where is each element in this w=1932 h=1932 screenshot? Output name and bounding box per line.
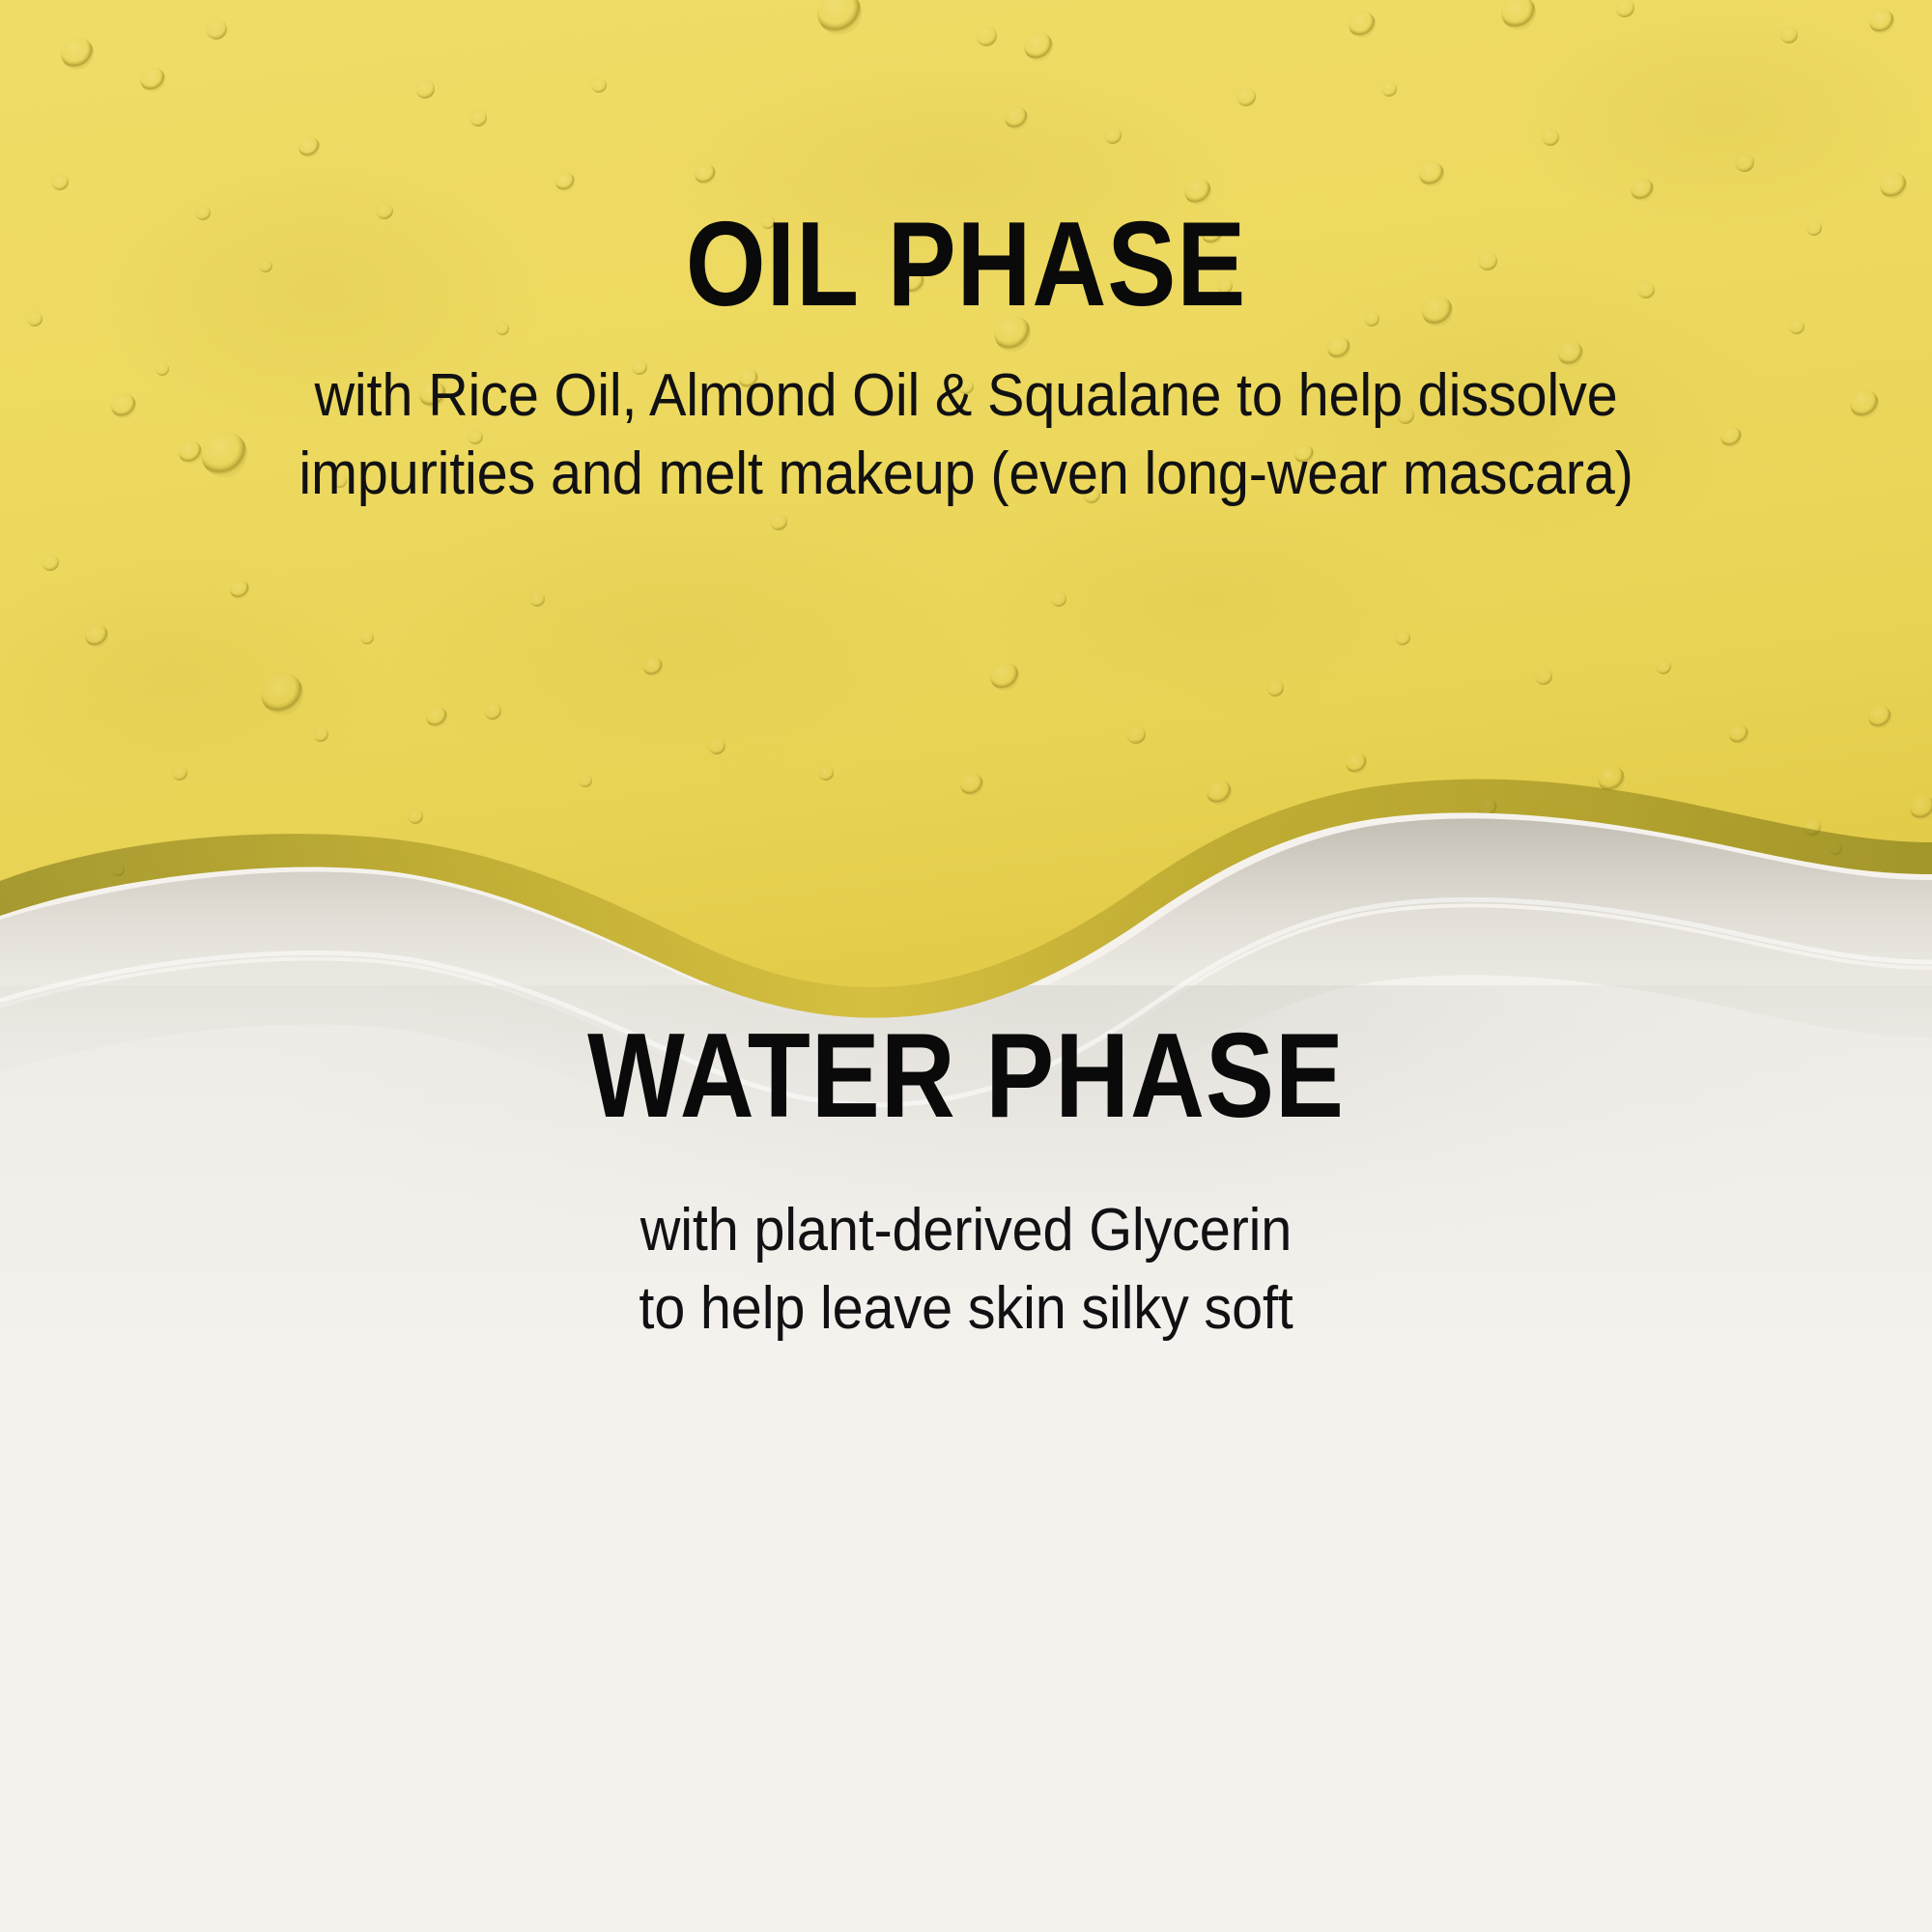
water-phase-subtitle-line-1: with plant-derived Glycerin [68,1192,1864,1270]
water-phase-subtitle: with plant-derived Glycerin to help leav… [68,1192,1864,1348]
water-phase-heading: WATER PHASE [135,1016,1797,1136]
oil-phase-heading: OIL PHASE [135,205,1797,325]
water-phase-subtitle-line-2: to help leave skin silky soft [68,1270,1864,1349]
oil-phase-subtitle: with Rice Oil, Almond Oil & Squalane to … [68,357,1864,513]
oil-liquid-shape [0,0,1932,1159]
oil-phase-subtitle-line-1: with Rice Oil, Almond Oil & Squalane to … [68,357,1864,436]
oil-phase-subtitle-line-2: impurities and melt makeup (even long-we… [68,436,1864,514]
water-phase-text-block: WATER PHASE with plant-derived Glycerin … [0,1016,1932,1348]
oil-phase-text-block: OIL PHASE with Rice Oil, Almond Oil & Sq… [0,205,1932,513]
oil-phase-background [0,0,1932,1159]
product-graphic-canvas: OIL PHASE with Rice Oil, Almond Oil & Sq… [0,0,1932,1932]
